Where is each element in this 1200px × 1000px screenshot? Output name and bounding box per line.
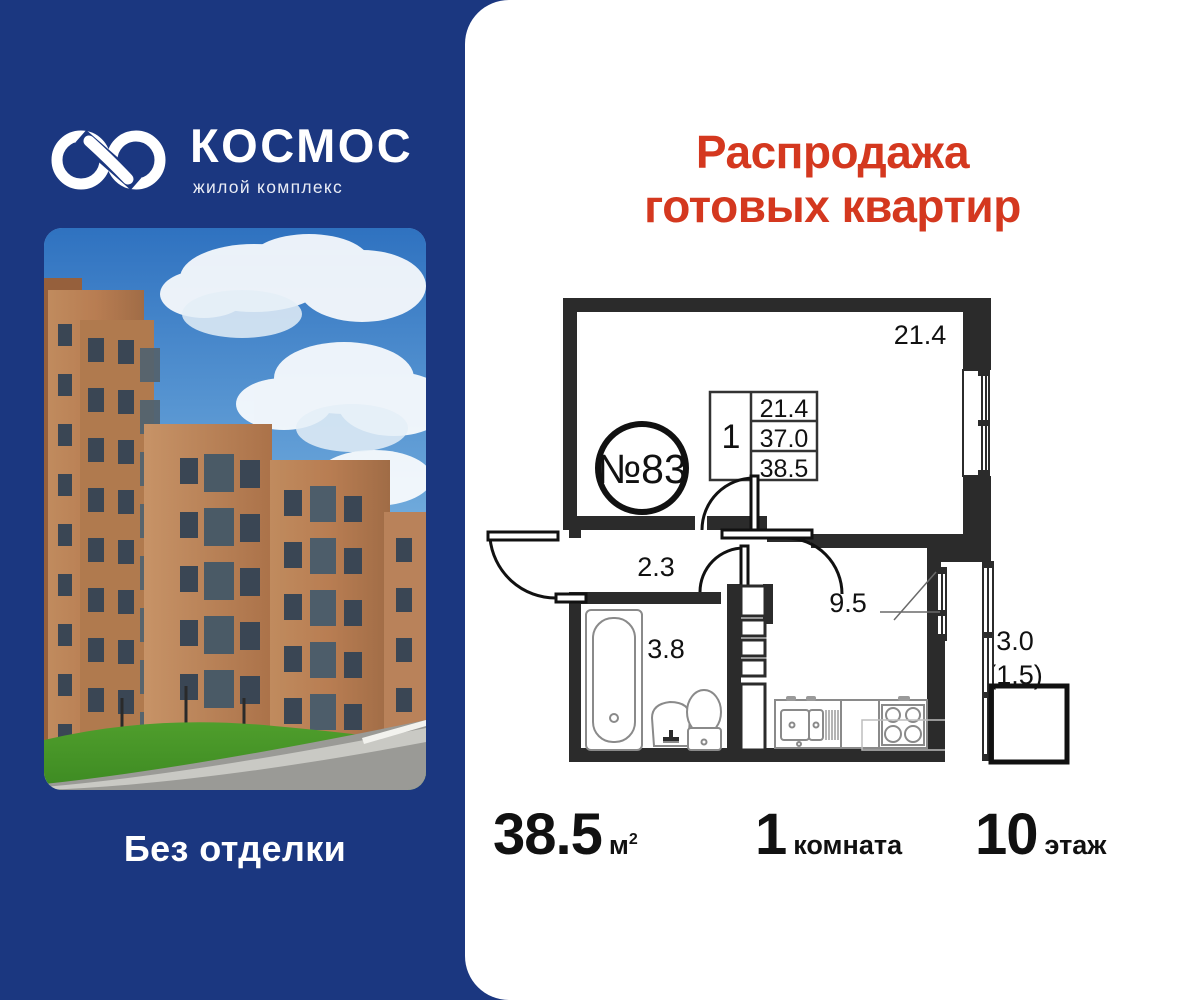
summary-rooms: 1: [722, 418, 741, 456]
brand-logo: КОСМОС жилой комплекс: [48, 122, 413, 198]
plan-summary-table: 1 21.4 37.0 38.5: [710, 392, 817, 483]
room-label-bathroom: 3.8: [647, 634, 685, 664]
brand-title: КОСМОС: [190, 122, 413, 169]
brand-subtitle: жилой комплекс: [193, 177, 413, 198]
room-label-balcony: 3.0: [996, 626, 1034, 656]
apartment-stats: 38.5 м2 1 комната 10 этаж: [485, 806, 1185, 896]
stat-floor-value: 10: [975, 806, 1038, 864]
balcony-door: [937, 568, 946, 640]
stat-rooms-label: комната: [793, 832, 902, 859]
bathtub-icon: [586, 610, 642, 750]
room-label-hallway: 2.3: [637, 552, 675, 582]
stat-area-unit-text: м: [609, 830, 629, 860]
building-photo-image: [44, 228, 426, 790]
promo-headline-line1: Распродажа: [465, 126, 1200, 180]
floor-plan-drawing: №83 1 21.4 37.0 38.5 21.4 2.3 3.8 9.5: [470, 280, 1200, 790]
stat-floor: 10 этаж: [975, 806, 1106, 864]
floor-plan: №83 1 21.4 37.0 38.5 21.4 2.3 3.8 9.5: [470, 280, 1200, 790]
right-content-card: Распродажа готовых квартир: [465, 0, 1200, 1000]
kitchen-sink-icon: [781, 710, 823, 746]
left-brand-panel: КОСМОС жилой комплекс: [0, 0, 470, 1000]
infinity-icon: [48, 128, 172, 192]
summary-living-area: 21.4: [760, 395, 809, 423]
promo-headline: Распродажа готовых квартир: [465, 126, 1200, 234]
niche-shelves: [741, 586, 765, 750]
apartment-number-text: №83: [597, 446, 687, 492]
stat-rooms: 1 комната: [755, 806, 902, 864]
listing-card: КОСМОС жилой комплекс: [0, 0, 1200, 1000]
summary-total-area: 38.5: [760, 455, 809, 483]
promo-headline-line2: готовых квартир: [465, 180, 1200, 234]
finish-caption: Без отделки: [0, 828, 470, 870]
stat-area-unit: м2: [609, 832, 638, 859]
stat-area-unit-sup: 2: [629, 831, 638, 848]
stove-icon: [882, 705, 924, 745]
room-label-kitchen: 9.5: [829, 588, 867, 618]
stat-floor-label: этаж: [1045, 832, 1107, 859]
stat-area: 38.5 м2: [493, 806, 638, 864]
summary-area-no-balcony: 37.0: [760, 425, 809, 453]
building-photo: [44, 228, 426, 790]
stat-area-value: 38.5: [493, 806, 602, 864]
room-label-living: 21.4: [894, 320, 947, 350]
apartment-number-badge: №83: [597, 424, 687, 512]
stat-rooms-value: 1: [755, 806, 786, 864]
toilet-icon: [687, 690, 721, 750]
